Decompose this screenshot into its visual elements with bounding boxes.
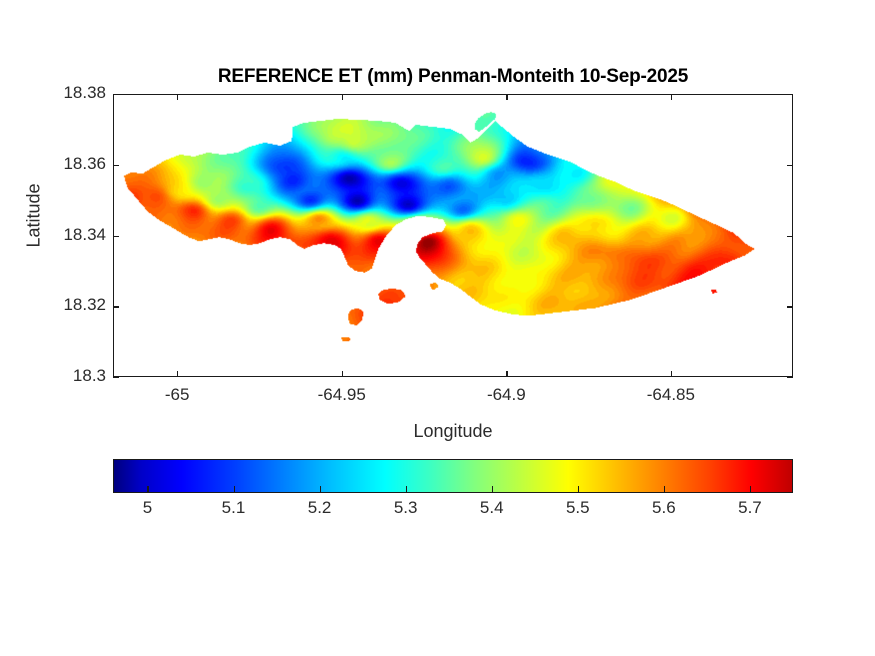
y-tick — [113, 236, 119, 237]
y-tick — [787, 377, 793, 378]
y-tick-label: 18.38 — [16, 83, 106, 103]
et-heatmap-raster — [114, 95, 792, 376]
y-tick — [787, 165, 793, 166]
x-tick — [342, 94, 343, 100]
y-axis-title: Latitude — [24, 156, 45, 276]
y-tick — [787, 236, 793, 237]
y-tick — [787, 306, 793, 307]
colorbar-tick-label: 5.7 — [710, 498, 790, 518]
y-tick-label: 18.3 — [16, 366, 106, 386]
x-tick — [177, 371, 178, 377]
colorbar-tick-label: 5.1 — [194, 498, 274, 518]
x-tick-label: -65 — [117, 385, 237, 405]
y-tick — [787, 94, 793, 95]
colorbar-tick-label: 5.3 — [366, 498, 446, 518]
x-tick — [671, 371, 672, 377]
y-tick — [113, 94, 119, 95]
x-tick — [506, 94, 507, 100]
chart-title: REFERENCE ET (mm) Penman-Monteith 10-Sep… — [113, 66, 793, 88]
figure-canvas: REFERENCE ET (mm) Penman-Monteith 10-Sep… — [0, 0, 875, 656]
x-tick — [671, 94, 672, 100]
colorbar-tick — [664, 486, 665, 493]
colorbar-tick — [234, 486, 235, 493]
colorbar-tick — [492, 486, 493, 493]
x-tick — [177, 94, 178, 100]
x-tick-label: -64.95 — [282, 385, 402, 405]
colorbar-tick — [578, 486, 579, 493]
colorbar — [113, 459, 793, 493]
colorbar-tick — [406, 486, 407, 493]
colorbar-tick-label: 5.6 — [624, 498, 704, 518]
colorbar-tick-label: 5.2 — [280, 498, 360, 518]
y-tick — [113, 306, 119, 307]
colorbar-gradient — [113, 459, 793, 493]
x-tick-label: -64.85 — [611, 385, 731, 405]
colorbar-tick-label: 5.4 — [452, 498, 532, 518]
y-tick — [113, 165, 119, 166]
y-tick-label: 18.32 — [16, 295, 106, 315]
colorbar-tick-label: 5.5 — [538, 498, 618, 518]
colorbar-tick-label: 5 — [107, 498, 187, 518]
map-axes — [113, 94, 793, 377]
x-tick — [506, 371, 507, 377]
colorbar-tick — [147, 486, 148, 493]
colorbar-tick — [750, 486, 751, 493]
y-tick — [113, 377, 119, 378]
x-tick-label: -64.9 — [446, 385, 566, 405]
x-tick — [342, 371, 343, 377]
colorbar-tick — [320, 486, 321, 493]
x-axis-title: Longitude — [113, 421, 793, 442]
